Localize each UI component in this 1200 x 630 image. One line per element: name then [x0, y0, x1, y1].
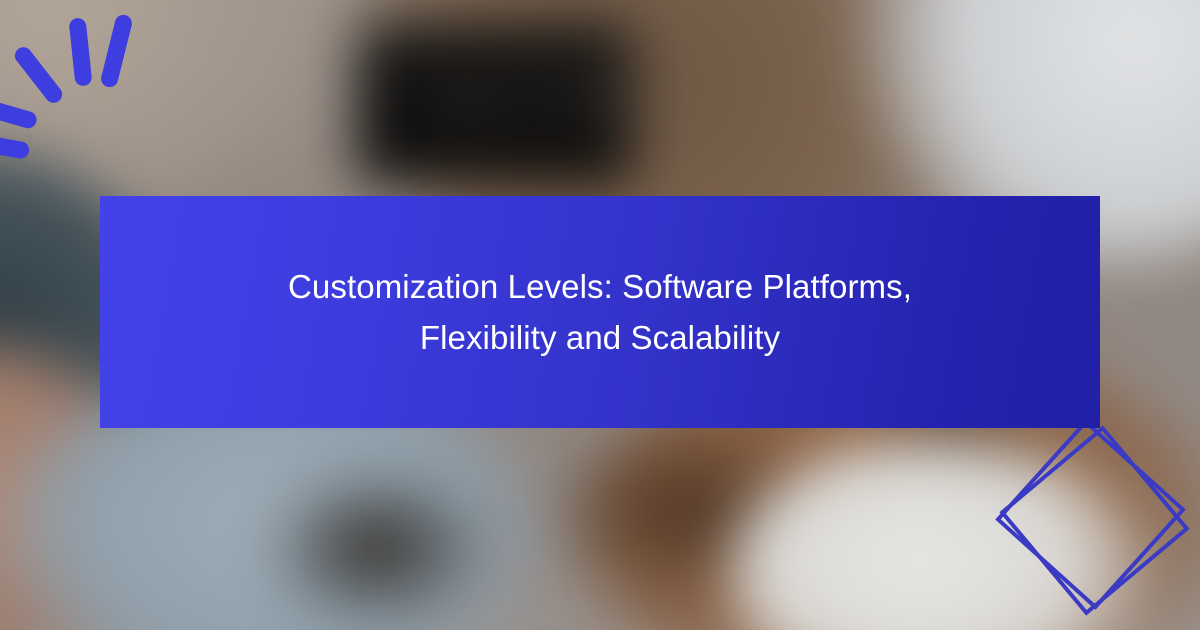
- social-share-banner: Customization Levels: Software Platforms…: [0, 0, 1200, 630]
- rotated-square-outline: [999, 425, 1189, 615]
- sparkle-burst-icon: [0, 0, 160, 140]
- sparkle-dash: [0, 130, 30, 160]
- background-blob-dark-bottom: [261, 469, 494, 628]
- sparkle-dash: [0, 96, 39, 131]
- page-title: Customization Levels: Software Platforms…: [220, 261, 980, 363]
- background-smartphone-glint-left: [436, 92, 497, 115]
- sparkle-dash: [11, 44, 65, 106]
- background-smartphone-lens: [582, 82, 614, 114]
- sparkle-dash: [68, 17, 92, 86]
- background-smartphone-glint-right: [513, 92, 558, 113]
- sparkle-dash: [99, 13, 133, 89]
- rotated-squares-icon: [995, 425, 1200, 630]
- title-banner: Customization Levels: Software Platforms…: [100, 196, 1100, 428]
